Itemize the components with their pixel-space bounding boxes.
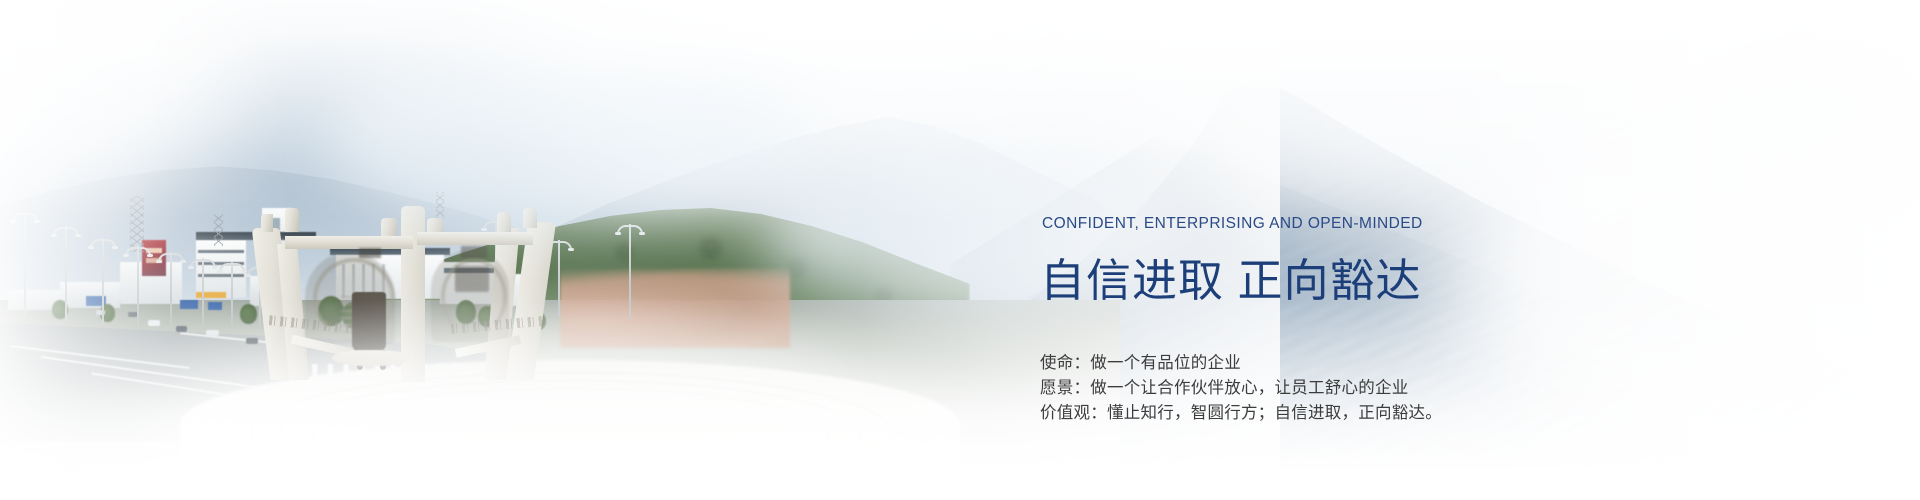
transmission-tower bbox=[214, 214, 223, 246]
monument-beam-left bbox=[285, 236, 413, 249]
culture-statement-list: 使命：做一个有品位的企业 愿景：做一个让合作伙伴放心，让员工舒心的企业 价值观：… bbox=[1040, 351, 1740, 426]
plaza-ring bbox=[312, 388, 830, 480]
transmission-tower bbox=[130, 196, 144, 252]
culture-line-mission: 使命：做一个有品位的企业 bbox=[1040, 351, 1740, 376]
monument-inset-panel bbox=[455, 266, 489, 292]
street-lamp bbox=[160, 252, 182, 326]
street-lamp bbox=[10, 212, 40, 318]
culture-line-vision: 愿景：做一个让合作伙伴放心，让员工舒心的企业 bbox=[1040, 376, 1740, 401]
street-lamp bbox=[192, 258, 213, 328]
banner-eyebrow-english: CONFIDENT, ENTERPRISING AND OPEN-MINDED bbox=[1042, 216, 1740, 232]
rock-garden bbox=[560, 268, 790, 348]
building-band bbox=[198, 250, 244, 253]
vehicle bbox=[206, 330, 219, 336]
bronze-ding-sculpture bbox=[352, 292, 386, 354]
street-lamp bbox=[126, 246, 150, 326]
banner-text-panel: CONFIDENT, ENTERPRISING AND OPEN-MINDED … bbox=[1040, 216, 1740, 426]
monument-crown-notch bbox=[497, 212, 511, 234]
street-lamp bbox=[616, 224, 644, 318]
culture-banner: CONFIDENT, ENTERPRISING AND OPEN-MINDED … bbox=[0, 0, 1920, 500]
monument-beam-right bbox=[417, 232, 533, 245]
vehicle bbox=[176, 326, 187, 332]
monument-crown-notch bbox=[523, 208, 537, 228]
street-lamp bbox=[222, 262, 242, 328]
monument-crown-notch bbox=[285, 208, 299, 232]
landmark-archway-monument bbox=[255, 192, 565, 392]
ding-pedestal-steps bbox=[332, 350, 410, 366]
monument-crown-notch bbox=[261, 214, 273, 232]
banner-headline: 自信进取 正向豁达 bbox=[1040, 258, 1740, 303]
culture-line-values: 价值观：懂止知行，智圆行方；自信进取，正向豁达。 bbox=[1040, 401, 1740, 426]
monument-capital bbox=[359, 248, 381, 258]
street-lamp bbox=[52, 226, 80, 322]
street-lamp bbox=[90, 238, 116, 326]
monument-capital bbox=[461, 246, 487, 258]
